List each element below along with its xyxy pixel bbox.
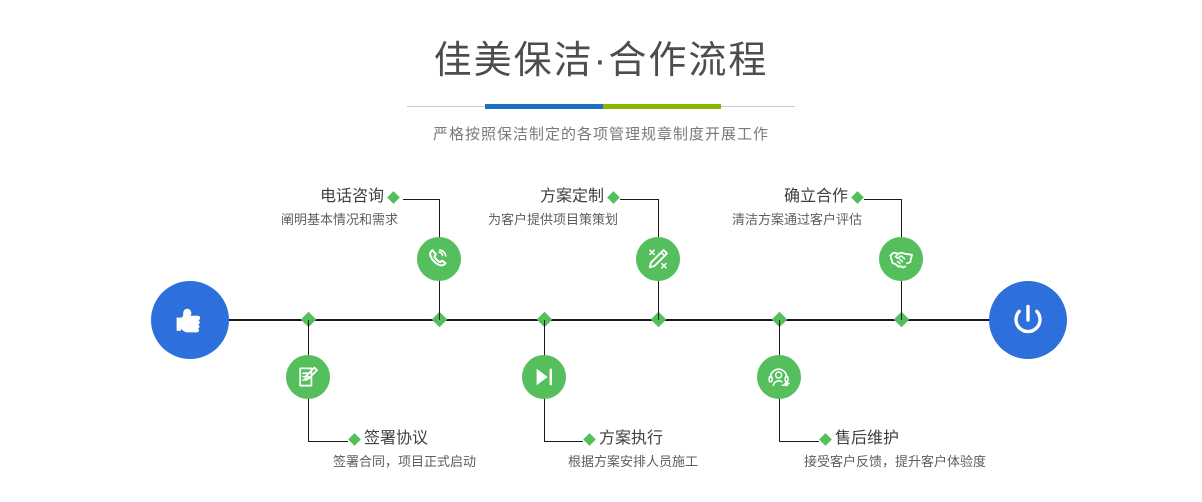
step-title-4: 方案执行: [599, 429, 663, 449]
label-marker-5: [851, 191, 864, 204]
step-title-1: 电话咨询: [320, 187, 384, 207]
step-icon-2: [286, 355, 330, 399]
power-button-icon: [1006, 298, 1050, 342]
headset-support-add-icon: [766, 364, 792, 390]
step-subtitle-5: 清洁方案通过客户评估: [630, 210, 862, 229]
step-label-5: 确立合作 清洁方案通过客户评估: [630, 187, 862, 229]
connector-horizontal-step-6: [779, 441, 819, 442]
document-sign-icon: [295, 364, 321, 390]
step-label-2: 签署协议 签署合同，项目正式启动: [350, 429, 590, 471]
connector-horizontal-step-5: [864, 199, 902, 200]
step-title-3: 方案定制: [540, 187, 604, 207]
pencil-design-icon: [645, 246, 671, 272]
step-icon-4: [522, 355, 566, 399]
label-marker-6: [819, 433, 832, 446]
step-subtitle-2: 签署合同，项目正式启动: [333, 452, 590, 471]
step-label-1: 电话咨询 阐明基本情况和需求: [170, 187, 398, 229]
timeline-end-node: [989, 281, 1067, 359]
step-icon-1: [417, 237, 461, 281]
header: 佳美保洁·合作流程 严格按照保洁制定的各项管理规章制度开展工作: [0, 0, 1202, 144]
step-label-6: 售后维护 接受客户反馈，提升客户体验度: [821, 429, 1071, 471]
handshake-icon: [888, 246, 915, 273]
page-subtitle: 严格按照保洁制定的各项管理规章制度开展工作: [0, 123, 1202, 144]
divider-segment-green: [603, 104, 721, 109]
cooperation-process-infographic: 佳美保洁·合作流程 严格按照保洁制定的各项管理规章制度开展工作: [0, 0, 1202, 502]
thumbs-up-pointing-hand-icon: [170, 300, 210, 340]
phone-ringing-icon: [426, 246, 452, 272]
label-marker-3: [607, 191, 620, 204]
step-icon-3: [636, 237, 680, 281]
step-icon-6: [757, 355, 801, 399]
connector-horizontal-step-4: [544, 441, 583, 442]
step-subtitle-4: 根据方案安排人员施工: [568, 452, 825, 471]
step-subtitle-3: 为客户提供项目策策划: [390, 210, 618, 229]
step-label-3: 方案定制 为客户提供项目策策划: [390, 187, 618, 229]
timeline-start-node: [151, 281, 229, 359]
step-subtitle-6: 接受客户反馈，提升客户体验度: [804, 452, 1071, 471]
step-title-2: 签署协议: [364, 429, 428, 449]
step-label-4: 方案执行 根据方案安排人员施工: [585, 429, 825, 471]
page-title: 佳美保洁·合作流程: [0, 42, 1202, 80]
play-execute-icon: [531, 364, 557, 390]
label-marker-2: [348, 433, 361, 446]
connector-horizontal-step-2: [308, 441, 348, 442]
step-title-6: 售后维护: [835, 429, 899, 449]
step-title-5: 确立合作: [784, 187, 848, 207]
step-subtitle-1: 阐明基本情况和需求: [170, 210, 398, 229]
title-divider: [407, 102, 795, 112]
label-marker-4: [583, 433, 596, 446]
step-icon-5: [879, 237, 923, 281]
divider-segment-blue: [485, 104, 603, 109]
